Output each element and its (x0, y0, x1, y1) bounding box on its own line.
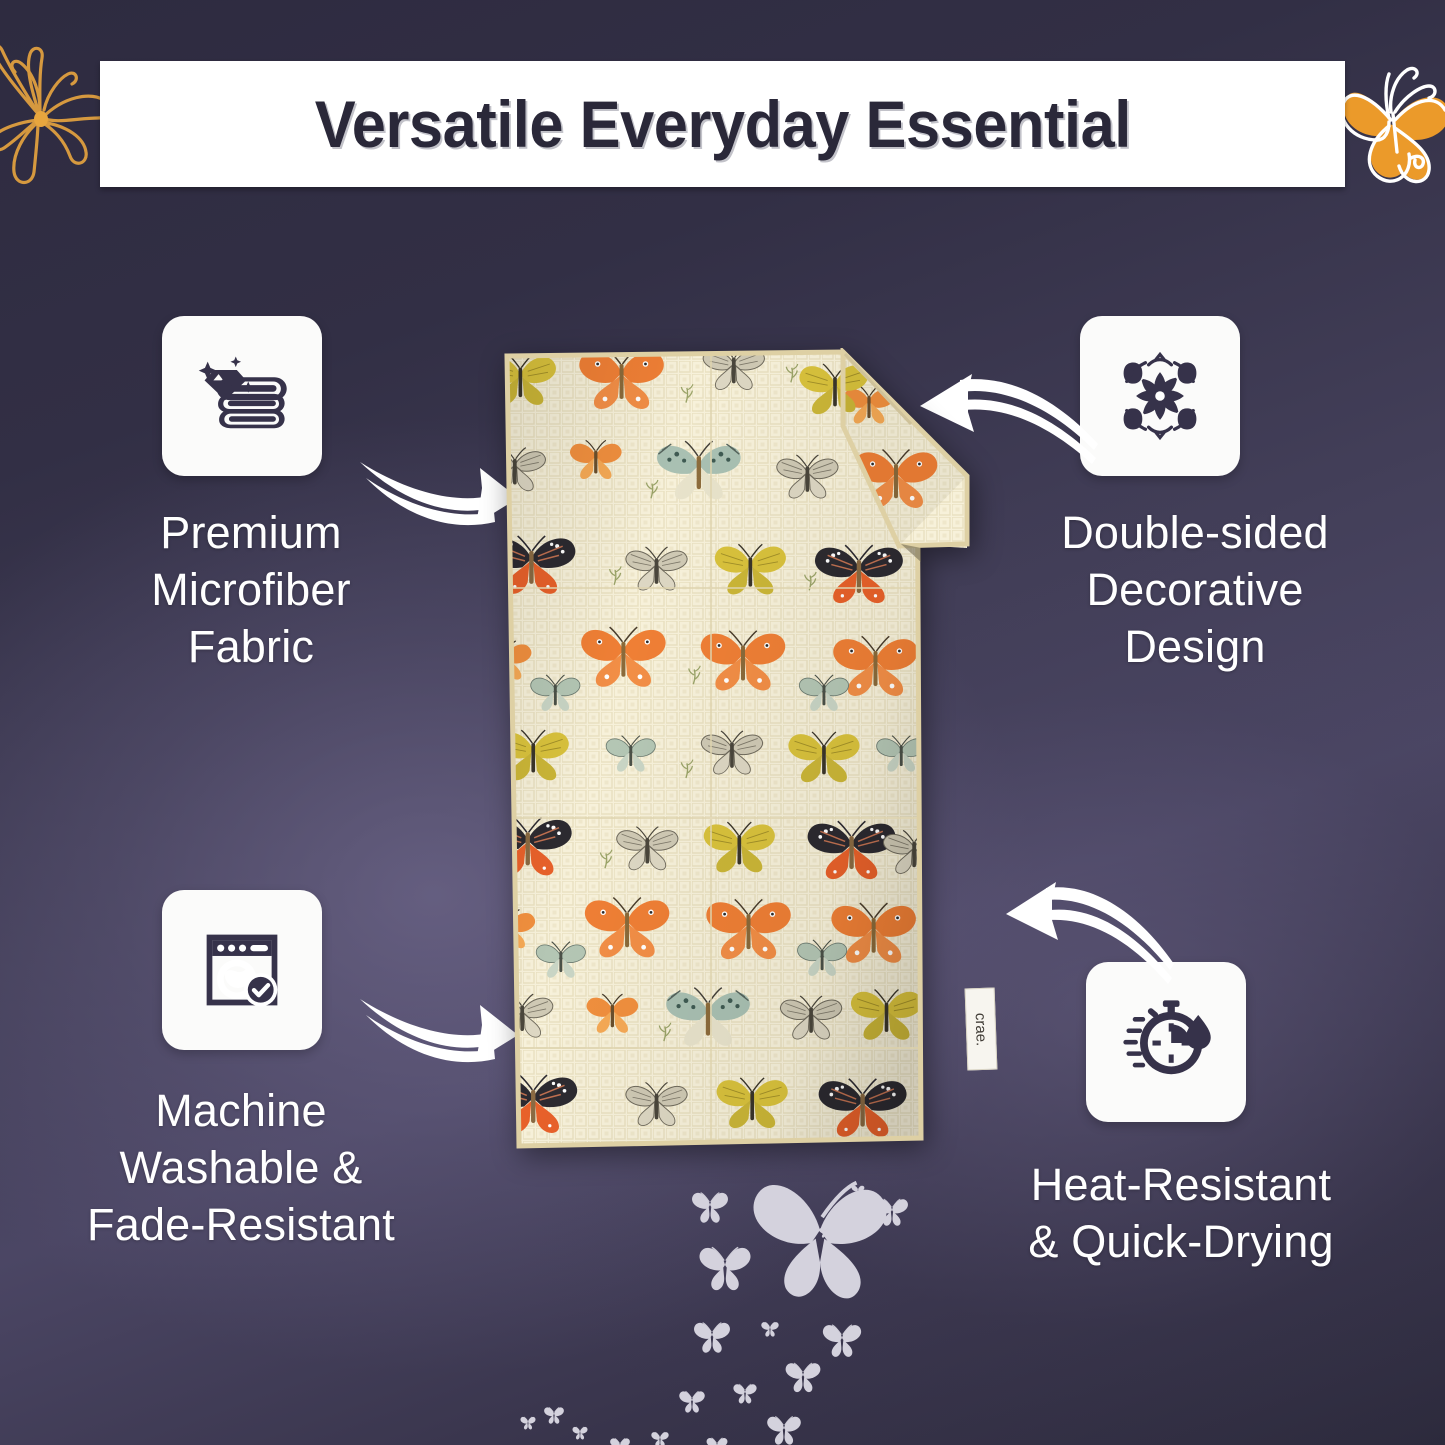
feature-label-double-sided: Double-sided Decorative Design (1000, 504, 1390, 675)
infographic-canvas: Versatile Everyday Essential (0, 0, 1445, 1445)
washing-machine-check-icon-box (162, 890, 322, 1050)
care-label-text: crae. (972, 1012, 990, 1046)
title-banner: Versatile Everyday Essential (100, 61, 1345, 187)
feature-label-heat-resistant: Heat-Resistant & Quick-Drying (986, 1156, 1376, 1270)
page-title: Versatile Everyday Essential (314, 86, 1130, 162)
folded-towels-diamond-icon (190, 344, 294, 448)
stopwatch-droplet-icon (1114, 990, 1218, 1094)
feature-heat-resistant-quick-drying: Heat-Resistant & Quick-Drying (986, 962, 1376, 1270)
product-care-label: crae. (965, 988, 998, 1071)
product-image-butterfly-towel: crae. (497, 348, 1003, 1158)
folded-towels-diamond-icon-box (162, 316, 322, 476)
curved-arrow-left-icon (988, 878, 1178, 990)
butterfly-print-kitchen-towel (497, 348, 1003, 1158)
washing-machine-check-icon (190, 918, 294, 1022)
floral-ornament-icon (1108, 344, 1212, 448)
butterfly-swarm-icon (520, 1160, 980, 1445)
butterfly-filled-icon (1335, 48, 1445, 212)
feature-label-machine-washable: Machine Washable & Fade-Resistant (46, 1082, 436, 1253)
butterfly-outline-icon (0, 38, 116, 198)
floral-ornament-icon-box (1080, 316, 1240, 476)
